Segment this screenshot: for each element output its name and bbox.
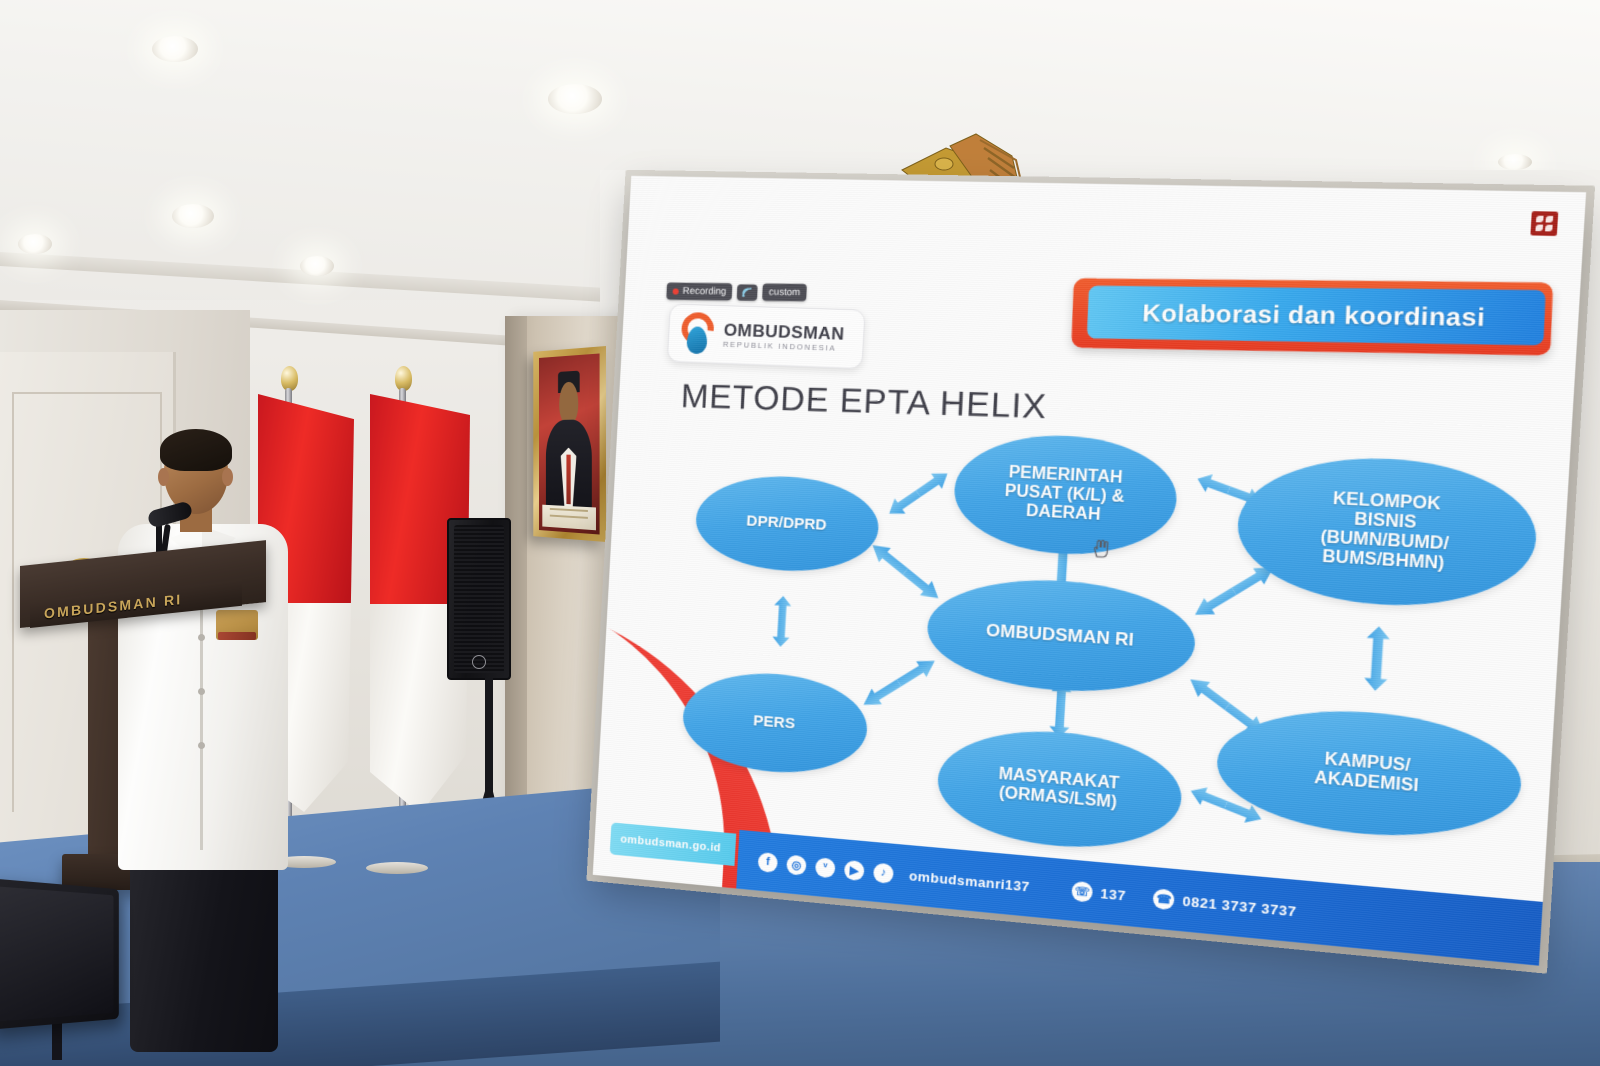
recording-chip[interactable]: Recording — [666, 282, 732, 300]
presidential-portrait — [533, 346, 606, 542]
tiktok-icon[interactable]: ♪ — [873, 862, 894, 883]
ombudsman-logo-icon — [677, 312, 717, 356]
facebook-icon[interactable]: f — [758, 851, 778, 872]
footer-social-handle: ombudsmanri137 — [909, 867, 1031, 894]
slide-canvas: Kolaborasi dan koordinasi Recording — [593, 176, 1586, 966]
footer-phone-group: ☏ 137 — [1072, 880, 1127, 905]
batik-dot-mark-icon — [1530, 211, 1558, 236]
cast-icon — [742, 287, 753, 297]
phone-icon: ☏ — [1072, 880, 1094, 902]
instagram-icon[interactable]: ◎ — [786, 854, 807, 875]
ceiling-downlight — [18, 234, 52, 254]
youtube-icon[interactable]: ▶ — [844, 859, 865, 880]
footer-url-text: ombudsman.go.id — [620, 833, 721, 854]
hand-cursor-icon — [1091, 538, 1110, 558]
footer-phone-number: 137 — [1100, 885, 1126, 903]
slide-header-text: Kolaborasi dan koordinasi — [1142, 298, 1486, 331]
whatsapp-icon: ☎ — [1153, 888, 1175, 910]
slide-header-banner: Kolaborasi dan koordinasi — [1071, 278, 1553, 355]
recording-status-chips: Recording custom — [666, 282, 806, 301]
cast-chip[interactable] — [737, 284, 758, 301]
recording-chip-label: Recording — [682, 286, 726, 298]
footer-whatsapp-group: ☎ 0821 3737 3737 — [1153, 888, 1297, 922]
ceiling-downlight — [1498, 154, 1532, 170]
ceiling-downlight — [152, 36, 198, 62]
ceiling-downlight — [548, 84, 602, 114]
ceiling-downlight — [300, 256, 334, 276]
speaker-person — [118, 434, 288, 870]
presentation-room-photo: OMBUDSMAN RI Kolaborasi dan koordinasi — [0, 0, 1600, 1066]
custom-chip[interactable]: custom — [762, 284, 806, 302]
record-dot-icon — [673, 288, 679, 294]
mic-stand-base — [366, 862, 428, 874]
custom-chip-label: custom — [769, 287, 801, 299]
footer-url-pill[interactable]: ombudsman.go.id — [610, 822, 736, 866]
projection-screen[interactable]: Kolaborasi dan koordinasi Recording — [593, 176, 1586, 966]
ombudsman-logo-badge: OMBUDSMAN REPUBLIK INDONESIA — [667, 303, 866, 369]
footer-whatsapp-number: 0821 3737 3737 — [1182, 893, 1297, 920]
twitter-icon[interactable]: ᵛ — [815, 857, 836, 878]
confidence-monitor — [0, 878, 119, 1030]
ceiling-downlight — [172, 204, 214, 228]
